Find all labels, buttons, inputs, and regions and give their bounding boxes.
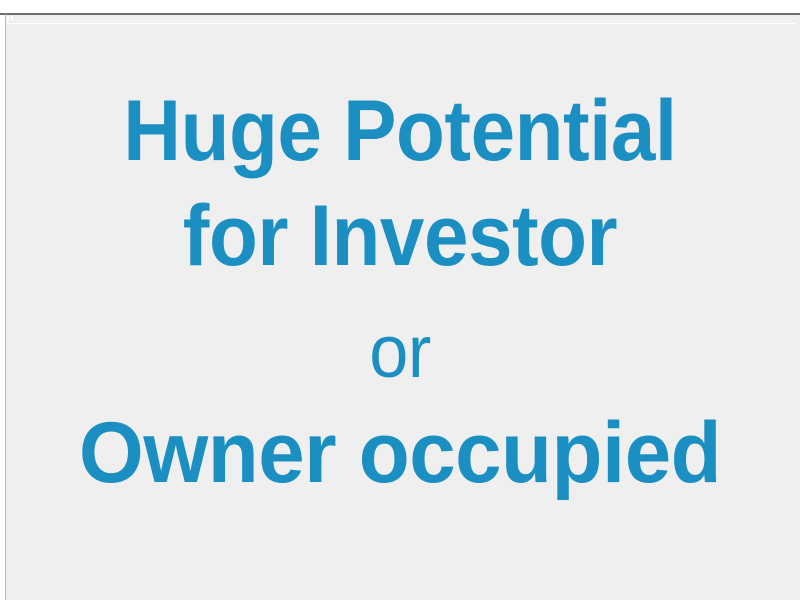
headline-line-2: for Investor: [28, 193, 772, 279]
top-divider-rule: [0, 13, 800, 15]
corner-notch-right: [11, 16, 13, 21]
top-highlight-line: [7, 23, 796, 24]
headline-line-1: Huge Potential: [28, 88, 772, 174]
screenshot-root: Huge Potential for Investor or Owner occ…: [0, 0, 800, 600]
left-divider-rule: [5, 14, 6, 600]
headline-line-3-conjunction: or: [20, 315, 780, 389]
headline-line-4: Owner occupied: [12, 410, 788, 496]
corner-notch-left: [7, 16, 9, 21]
